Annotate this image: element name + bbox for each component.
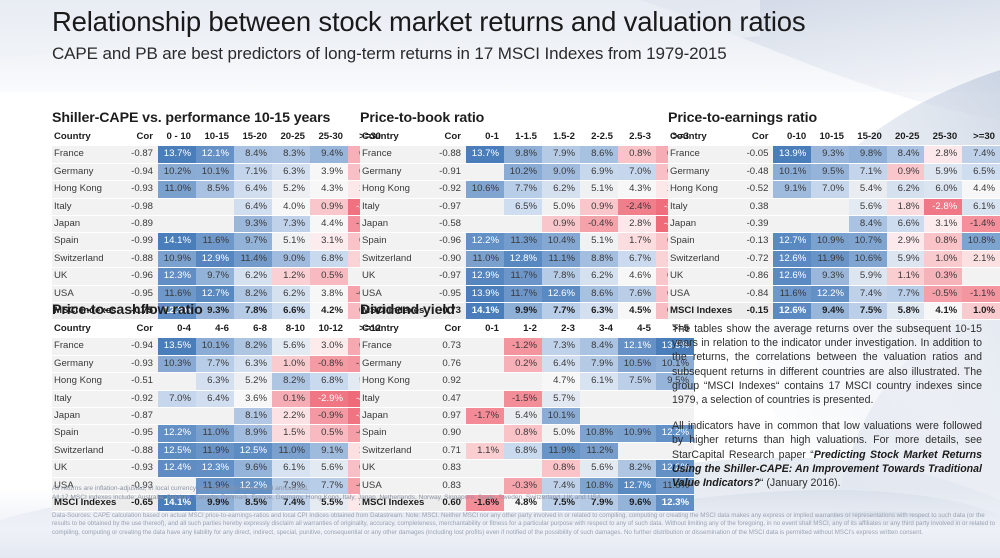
column-header: 4-6 [196, 321, 234, 338]
return-cell: 0.5% [310, 425, 348, 442]
row-label-country: Italy [52, 198, 124, 215]
return-cell: 7.4% [962, 146, 1000, 163]
column-header: 20-25 [272, 129, 310, 146]
table-row: Spain-0.9612.2%11.3%10.4%5.1%1.7%0.8% [360, 233, 694, 250]
row-label-country: Germany [668, 163, 740, 180]
return-cell-empty [158, 408, 196, 425]
return-cell: 6.2% [234, 268, 272, 285]
correlation-value: -0.93 [124, 460, 158, 477]
return-cell: 11.6% [773, 285, 811, 302]
return-cell: 5.9% [924, 163, 962, 180]
return-cell: 6.4% [234, 198, 272, 215]
return-cell: 12.8% [504, 250, 542, 267]
return-cell: 12.6% [542, 285, 580, 302]
return-cell: 0.8% [618, 146, 656, 163]
table-row: Italy0.47-1.5%5.7% [360, 390, 694, 407]
return-cell-empty [580, 408, 618, 425]
row-label-country: UK [360, 268, 432, 285]
return-cell: 5.2% [272, 181, 310, 198]
correlation-value: -0.72 [740, 250, 774, 267]
return-cell: 13.7% [158, 146, 196, 163]
return-cell: 1.2% [272, 268, 310, 285]
return-cell: 6.5% [504, 198, 542, 215]
correlation-value: -0.05 [740, 146, 774, 163]
row-label-country: Hong Kong [668, 181, 740, 198]
correlation-value: -0.92 [124, 390, 158, 407]
row-label-country: UK [52, 268, 124, 285]
return-cell: 1.0% [272, 355, 310, 372]
row-label-country: UK [360, 460, 432, 477]
correlation-value: -0.88 [124, 250, 158, 267]
table-block-dividend-yield: Dividend yieldCountryCor0-11-22-33-44-5>… [360, 302, 694, 512]
return-cell: 0.9% [310, 198, 348, 215]
return-cell: 10.3% [158, 355, 196, 372]
row-label-country: Hong Kong [360, 373, 432, 390]
return-cell-empty [466, 390, 504, 407]
table-row: UK-0.8612.6%9.3%5.9%1.1%0.3% [668, 268, 1000, 285]
table-row: Hong Kong-0.529.1%7.0%5.4%6.2%6.0%4.4% [668, 181, 1000, 198]
return-cell: 9.1% [310, 442, 348, 459]
correlation-value: -0.96 [124, 268, 158, 285]
return-cell: 6.8% [310, 250, 348, 267]
return-cell: 7.5% [618, 373, 656, 390]
return-cell: 10.8% [962, 233, 1000, 250]
slide-header: Relationship between stock market return… [52, 4, 982, 65]
correlation-value: 0.38 [740, 198, 774, 215]
column-header: Country [668, 129, 740, 146]
return-cell: 8.2% [272, 373, 310, 390]
return-cell: 5.1% [580, 181, 618, 198]
column-header: Cor [124, 321, 158, 338]
correlation-value: 0.76 [432, 355, 466, 372]
column-header: Cor [432, 321, 466, 338]
correlation-value: -0.91 [432, 163, 466, 180]
data-table: CountryCor0-11-22-33-44-5>=5France0.73-1… [360, 321, 694, 512]
return-cell: 7.7% [504, 181, 542, 198]
return-cell-empty [504, 216, 542, 233]
row-label-country: Japan [668, 216, 740, 233]
return-cell: 8.2% [234, 285, 272, 302]
page-title: Relationship between stock market return… [52, 4, 982, 40]
return-cell: 6.6% [887, 216, 925, 233]
return-cell-empty [773, 198, 811, 215]
row-label-country: Hong Kong [52, 181, 124, 198]
row-label-country: France [52, 146, 124, 163]
return-cell: -2.8% [924, 198, 962, 215]
return-cell: 3.8% [310, 285, 348, 302]
return-cell: 2.8% [618, 216, 656, 233]
return-cell-empty [962, 268, 1000, 285]
correlation-value: 0.97 [432, 408, 466, 425]
return-cell: 8.4% [849, 216, 887, 233]
table-block-shiller-cape: Shiller-CAPE vs. performance 10-15 years… [52, 110, 386, 320]
column-header: 1-2 [504, 321, 542, 338]
return-cell: 11.4% [234, 250, 272, 267]
return-cell-empty [466, 216, 504, 233]
return-cell: -0.9% [310, 408, 348, 425]
return-cell: 4.4% [962, 181, 1000, 198]
correlation-value: -0.87 [124, 408, 158, 425]
return-cell: 10.1% [196, 163, 234, 180]
table-row: USA-0.9511.6%12.7%8.2%6.2%3.8%-0.4% [52, 285, 386, 302]
correlation-value: -0.84 [740, 285, 774, 302]
description-paragraph-2: All indicators have in common that low v… [672, 419, 982, 490]
return-cell-empty [504, 460, 542, 477]
column-header: 1.5-2 [542, 129, 580, 146]
correlation-value: 0.92 [432, 373, 466, 390]
return-cell: 9.4% [811, 303, 849, 320]
table-row: Japan-0.878.1%2.2%-0.9%-3.0% [52, 408, 386, 425]
correlation-value: -0.58 [432, 216, 466, 233]
return-cell-empty [466, 460, 504, 477]
data-table: CountryCor0 - 1010-1515-2020-2525-30>=30… [52, 129, 386, 320]
correlation-value: -0.95 [124, 425, 158, 442]
table-row: UK0.830.8%5.6%8.2%12.2% [360, 460, 694, 477]
correlation-value: -0.97 [432, 198, 466, 215]
return-cell: 5.6% [849, 198, 887, 215]
return-cell: 1.7% [618, 233, 656, 250]
table-title: Price-to-earnings ratio [668, 110, 1000, 126]
correlation-value: 0.47 [432, 390, 466, 407]
return-cell: 8.8% [580, 250, 618, 267]
return-cell: 6.4% [196, 390, 234, 407]
description-paragraph-1: The tables show the average returns over… [672, 322, 982, 407]
row-label-country: Germany [360, 355, 432, 372]
return-cell: 12.4% [158, 460, 196, 477]
description-text: The tables show the average returns over… [672, 322, 982, 502]
table-header-row: CountryCor0-44-66-88-1010-12>=12 [52, 321, 386, 338]
return-cell: 9.7% [234, 233, 272, 250]
row-label-country: Germany [360, 163, 432, 180]
column-header: 15-20 [849, 129, 887, 146]
return-cell: 2.8% [924, 146, 962, 163]
return-cell: 6.2% [542, 181, 580, 198]
page-subtitle: CAPE and PB are best predictors of long-… [52, 42, 982, 65]
correlation-value: -0.39 [740, 216, 774, 233]
return-cell: 4.7% [542, 373, 580, 390]
return-cell-empty [618, 390, 656, 407]
column-header: 4-5 [618, 321, 656, 338]
return-cell-empty [466, 338, 504, 355]
correlation-value: -0.88 [124, 442, 158, 459]
correlation-value: -0.89 [124, 216, 158, 233]
return-cell-empty [618, 408, 656, 425]
table-row: Switzerland0.711.1%6.8%11.9%11.2% [360, 442, 694, 459]
table-row: Italy-0.976.5%5.0%0.9%-2.4%-3.4% [360, 198, 694, 215]
return-cell: 9.4% [310, 146, 348, 163]
return-cell: 5.6% [272, 338, 310, 355]
row-label-country: Japan [360, 408, 432, 425]
return-cell: 12.6% [773, 250, 811, 267]
return-cell-empty [466, 425, 504, 442]
return-cell: 12.9% [466, 268, 504, 285]
table-block-price-to-earnings: Price-to-earnings ratioCountryCor0-1010-… [668, 110, 1000, 320]
return-cell: 5.0% [542, 425, 580, 442]
return-cell-empty [158, 198, 196, 215]
return-cell: 6.3% [196, 373, 234, 390]
column-header: Country [360, 321, 432, 338]
row-label-country: UK [52, 460, 124, 477]
return-cell: 8.4% [234, 146, 272, 163]
return-cell: 5.6% [310, 460, 348, 477]
footnote-line-2: All 17 MSCI indexes include: Australia, … [52, 494, 992, 503]
column-header: 8-10 [272, 321, 310, 338]
correlation-value: -0.87 [124, 146, 158, 163]
return-cell-empty [466, 355, 504, 372]
return-cell: 12.2% [466, 233, 504, 250]
return-cell: 11.9% [196, 442, 234, 459]
table-row: Hong Kong-0.9311.0%8.5%6.4%5.2%4.3%2.7% [52, 181, 386, 198]
return-cell: 7.1% [234, 163, 272, 180]
return-cell: 10.7% [849, 233, 887, 250]
return-cell: 12.2% [158, 425, 196, 442]
correlation-value: -0.88 [432, 146, 466, 163]
return-cell: 6.5% [962, 163, 1000, 180]
table-title: Shiller-CAPE vs. performance 10-15 years [52, 110, 386, 126]
return-cell: 10.6% [466, 181, 504, 198]
return-cell: 14.1% [158, 233, 196, 250]
column-header: Cor [124, 129, 158, 146]
column-header: 2-3 [542, 321, 580, 338]
correlation-value: -0.95 [432, 285, 466, 302]
table-header-row: CountryCor0-11-22-33-44-5>=5 [360, 321, 694, 338]
return-cell: 1.5% [272, 425, 310, 442]
table-row: Italy-0.986.4%4.0%0.9%-3.1% [52, 198, 386, 215]
return-cell: 7.6% [618, 285, 656, 302]
return-cell: 1.0% [962, 303, 1000, 320]
return-cell: 1.8% [887, 198, 925, 215]
return-cell-empty [466, 163, 504, 180]
return-cell: 8.4% [580, 338, 618, 355]
return-cell: 10.4% [542, 233, 580, 250]
table-title: Dividend yield [360, 302, 694, 318]
row-label-country: Spain [52, 425, 124, 442]
column-header: 25-30 [924, 129, 962, 146]
table-row: France-0.9413.5%10.1%8.2%5.6%3.0%0.0% [52, 338, 386, 355]
table-row: UK-0.9612.3%9.7%6.2%1.2%0.5% [52, 268, 386, 285]
column-header: 0-1 [466, 129, 504, 146]
return-cell: 6.8% [504, 442, 542, 459]
data-table: CountryCor0-11-1.51.5-22-2.52.5-3>=3Fran… [360, 129, 694, 320]
return-cell: 10.5% [618, 355, 656, 372]
return-cell: 10.6% [849, 250, 887, 267]
column-header: >=30 [962, 129, 1000, 146]
row-label-country: Spain [668, 233, 740, 250]
return-cell: 10.9% [158, 250, 196, 267]
table-row: Spain0.900.8%5.0%10.8%10.9%12.2% [360, 425, 694, 442]
return-cell: 4.1% [924, 303, 962, 320]
return-cell: -0.5% [924, 285, 962, 302]
table-row: France-0.0513.9%9.3%9.8%8.4%2.8%7.4% [668, 146, 1000, 163]
return-cell: 11.1% [542, 250, 580, 267]
return-cell: 0.3% [924, 268, 962, 285]
table-header-row: CountryCor0-1010-1515-2020-2525-30>=30 [668, 129, 1000, 146]
return-cell: 12.3% [196, 460, 234, 477]
return-cell: 6.2% [887, 181, 925, 198]
column-header: 3-4 [580, 321, 618, 338]
return-cell: 11.0% [158, 181, 196, 198]
footnote-block: All returns are inflation-adjusted, in l… [52, 485, 992, 502]
return-cell: 7.3% [272, 216, 310, 233]
return-cell: 3.6% [234, 390, 272, 407]
return-cell: 0.9% [542, 216, 580, 233]
return-cell: 9.8% [849, 146, 887, 163]
return-cell: 10.1% [773, 163, 811, 180]
return-cell: 12.1% [618, 338, 656, 355]
return-cell: 6.2% [272, 285, 310, 302]
correlation-value: -0.15 [740, 303, 774, 320]
return-cell: -1.2% [504, 338, 542, 355]
table-row: Germany0.760.2%6.4%7.9%10.5%10.1% [360, 355, 694, 372]
table-row: MSCI Indexes-0.1512.6%9.4%7.5%5.8%4.1%1.… [668, 303, 1000, 320]
table-row: Japan0.97-1.7%5.4%10.1% [360, 408, 694, 425]
return-cell: 12.6% [773, 303, 811, 320]
return-cell: 7.0% [158, 390, 196, 407]
table-row: UK-0.9312.4%12.3%9.6%6.1%5.6%0.7% [52, 460, 386, 477]
return-cell: 5.9% [887, 250, 925, 267]
return-cell: 8.5% [196, 181, 234, 198]
return-cell: 7.5% [849, 303, 887, 320]
table-row: Switzerland-0.8812.5%11.9%12.5%11.0%9.1%… [52, 442, 386, 459]
return-cell: 0.5% [310, 268, 348, 285]
row-label-country: Switzerland [360, 250, 432, 267]
return-cell: 6.1% [272, 460, 310, 477]
column-header: 0 - 10 [158, 129, 196, 146]
return-cell: 3.1% [310, 233, 348, 250]
return-cell: -1.7% [466, 408, 504, 425]
correlation-value: -0.95 [124, 285, 158, 302]
column-header: 20-25 [887, 129, 925, 146]
row-label-country: Switzerland [52, 250, 124, 267]
return-cell: 1.1% [887, 268, 925, 285]
return-cell: 6.0% [924, 181, 962, 198]
column-header: Cor [432, 129, 466, 146]
table-header-row: CountryCor0-11-1.51.5-22-2.52.5-3>=3 [360, 129, 694, 146]
correlation-value: 0.71 [432, 442, 466, 459]
return-cell: 6.8% [310, 373, 348, 390]
return-cell-empty [811, 198, 849, 215]
correlation-value: -0.98 [124, 198, 158, 215]
column-header: 1-1.5 [504, 129, 542, 146]
return-cell: 11.7% [504, 285, 542, 302]
return-cell: 5.9% [849, 268, 887, 285]
row-label-country: Switzerland [52, 442, 124, 459]
row-label-country: Switzerland [668, 250, 740, 267]
return-cell: 5.6% [580, 460, 618, 477]
return-cell: 10.1% [196, 338, 234, 355]
return-cell: 6.3% [234, 355, 272, 372]
return-cell-empty [196, 408, 234, 425]
return-cell: 6.1% [580, 373, 618, 390]
return-cell: 6.9% [580, 163, 618, 180]
return-cell: 5.1% [272, 233, 310, 250]
return-cell-empty [618, 442, 656, 459]
table-row: USA-0.9513.9%11.7%12.6%8.6%7.6%0.7% [360, 285, 694, 302]
table-block-price-to-book: Price-to-book ratioCountryCor0-11-1.51.5… [360, 110, 694, 320]
return-cell: -1.5% [504, 390, 542, 407]
return-cell: 13.5% [158, 338, 196, 355]
correlation-value: 0.83 [432, 460, 466, 477]
data-table: CountryCor0-44-66-88-1010-12>=12France-0… [52, 321, 386, 512]
return-cell: 11.3% [504, 233, 542, 250]
column-header: 2.5-3 [618, 129, 656, 146]
table-row: France-0.8713.7%12.1%8.4%8.3%9.4%0.2% [52, 146, 386, 163]
row-label-country: Japan [52, 408, 124, 425]
return-cell: 8.4% [887, 146, 925, 163]
return-cell: 0.9% [887, 163, 925, 180]
table-row: Italy0.385.6%1.8%-2.8%6.1% [668, 198, 1000, 215]
correlation-value: -0.94 [124, 163, 158, 180]
return-cell: 12.9% [196, 250, 234, 267]
return-cell: 7.1% [849, 163, 887, 180]
correlation-value: -0.93 [124, 355, 158, 372]
table-title: Price-to-cashflow ratio [52, 302, 386, 318]
return-cell: 13.9% [773, 146, 811, 163]
return-cell: 9.3% [811, 268, 849, 285]
disclaimer-text: Data-Sources: CAPE calculation based on … [52, 512, 1000, 537]
return-cell: -2.4% [618, 198, 656, 215]
return-cell: 13.9% [466, 285, 504, 302]
return-cell: 12.1% [196, 146, 234, 163]
return-cell: 0.1% [272, 390, 310, 407]
return-cell: 11.9% [811, 250, 849, 267]
return-cell: 9.6% [234, 460, 272, 477]
correlation-value: -0.48 [740, 163, 774, 180]
return-cell: 5.7% [542, 390, 580, 407]
return-cell: 3.1% [924, 216, 962, 233]
data-table: CountryCor0-1010-1515-2020-2525-30>=30Fr… [668, 129, 1000, 320]
row-label-country: UK [668, 268, 740, 285]
return-cell: 9.3% [234, 216, 272, 233]
column-header: 0-4 [158, 321, 196, 338]
correlation-value: -0.93 [124, 181, 158, 198]
return-cell-empty [466, 198, 504, 215]
return-cell: 7.9% [542, 146, 580, 163]
table-header-row: CountryCor0 - 1010-1515-2020-2525-30>=30 [52, 129, 386, 146]
return-cell-empty [811, 216, 849, 233]
column-header: Country [52, 321, 124, 338]
return-cell: 5.8% [887, 303, 925, 320]
return-cell: 4.6% [618, 268, 656, 285]
table-row: USA-0.8411.6%12.2%7.4%7.7%-0.5%-1.1% [668, 285, 1000, 302]
return-cell: 2.2% [272, 408, 310, 425]
return-cell: 7.7% [196, 355, 234, 372]
row-label-country: Spain [360, 425, 432, 442]
return-cell: -0.8% [310, 355, 348, 372]
return-cell: 13.7% [466, 146, 504, 163]
return-cell: 12.3% [158, 268, 196, 285]
return-cell: 9.8% [504, 146, 542, 163]
correlation-value: 0.90 [432, 425, 466, 442]
column-header: 10-15 [811, 129, 849, 146]
return-cell-empty [466, 373, 504, 390]
return-cell: 9.3% [811, 146, 849, 163]
return-cell: 6.7% [618, 250, 656, 267]
return-cell: 6.2% [580, 268, 618, 285]
return-cell: 11.2% [580, 442, 618, 459]
return-cell: 10.9% [618, 425, 656, 442]
correlation-value: -0.96 [432, 233, 466, 250]
return-cell: 11.0% [272, 442, 310, 459]
row-label-country: Hong Kong [52, 373, 124, 390]
return-cell-empty [158, 216, 196, 233]
column-header: 6-8 [234, 321, 272, 338]
table-row: Germany-0.9410.2%10.1%7.1%6.3%3.9%0.7% [52, 163, 386, 180]
return-cell: 4.3% [618, 181, 656, 198]
return-cell-empty [158, 373, 196, 390]
return-cell: 11.6% [158, 285, 196, 302]
return-cell: 7.0% [811, 181, 849, 198]
